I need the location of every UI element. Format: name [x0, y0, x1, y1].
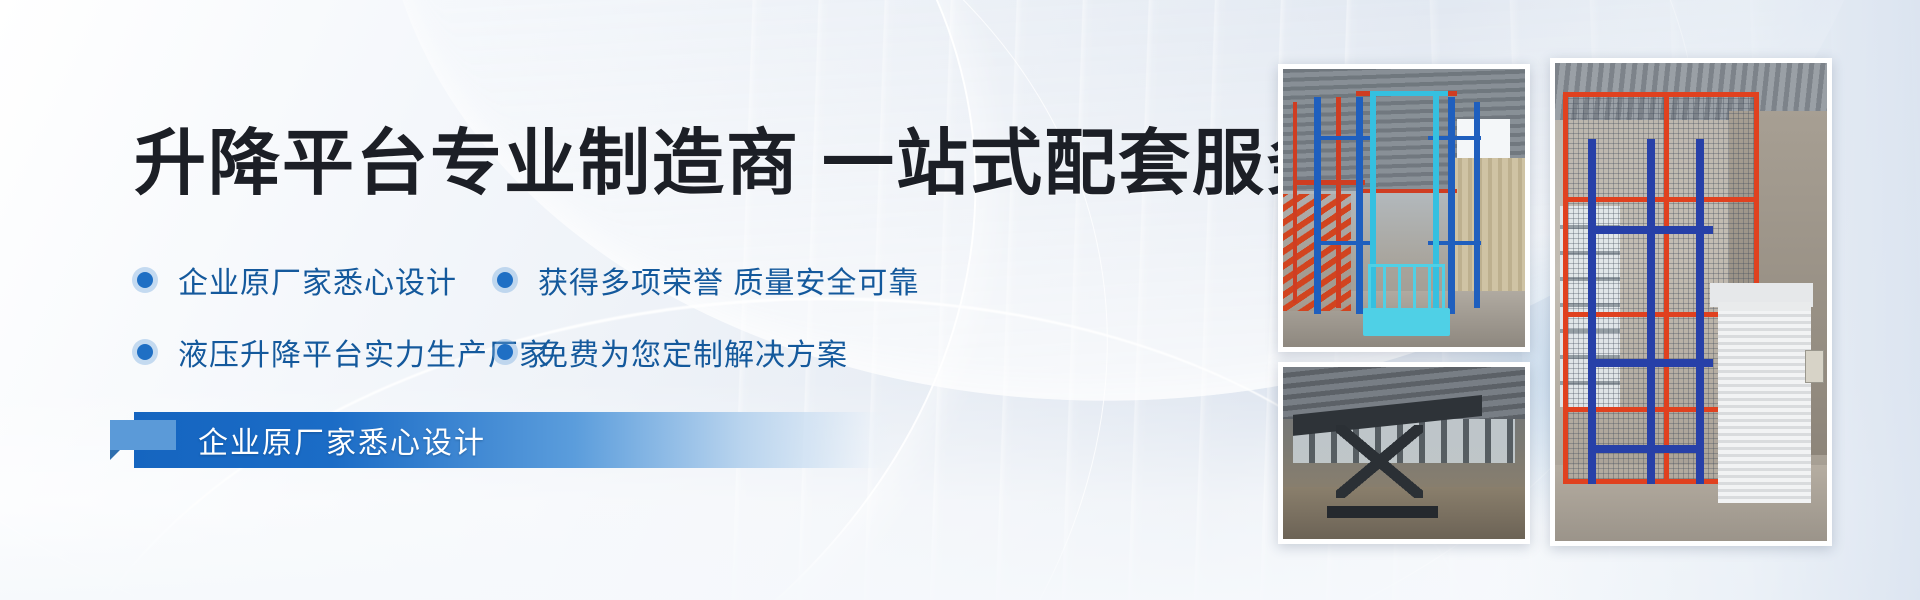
- feature-item-2: 获得多项荣誉 质量安全可靠: [490, 258, 919, 302]
- product-photo-collage: [1262, 0, 1920, 600]
- feature-item-4-label: 免费为您定制解决方案: [538, 330, 848, 374]
- banner-content: 升降平台专业制造商 一站式配套服务 企业原厂家悉心设计 获得多项荣誉 质量安全可…: [0, 0, 1260, 600]
- ribbon-label: 企业原厂家悉心设计: [198, 418, 486, 462]
- feature-item-4: 免费为您定制解决方案: [490, 330, 848, 374]
- cargo-lift-mezzanine-photo: [1278, 64, 1530, 352]
- feature-row-2: 液压升降平台实力生产厂家 免费为您定制解决方案: [130, 330, 1190, 374]
- promo-banner: 升降平台专业制造商 一站式配套服务 企业原厂家悉心设计 获得多项荣誉 质量安全可…: [0, 0, 1920, 600]
- bullet-dot-icon: [490, 265, 520, 295]
- scissor-lift-photo: [1278, 362, 1530, 544]
- feature-list: 企业原厂家悉心设计 获得多项荣誉 质量安全可靠 液压升降平台实力生产厂家 免费为…: [130, 258, 1190, 402]
- bullet-dot-icon: [130, 265, 160, 295]
- banner-headline: 升降平台专业制造商 一站式配套服务: [134, 104, 1340, 209]
- feature-item-3: 液压升降平台实力生产厂家: [130, 330, 490, 374]
- bullet-dot-icon: [490, 337, 520, 367]
- feature-item-2-label: 获得多项荣誉 质量安全可靠: [538, 258, 919, 302]
- guide-rail-lift-photo: [1550, 58, 1832, 546]
- feature-row-1: 企业原厂家悉心设计 获得多项荣誉 质量安全可靠: [130, 258, 1190, 302]
- highlight-ribbon: 企业原厂家悉心设计: [134, 412, 894, 468]
- feature-item-1-label: 企业原厂家悉心设计: [178, 258, 457, 302]
- bullet-dot-icon: [130, 337, 160, 367]
- ribbon-tab-icon: [110, 420, 176, 450]
- feature-item-1: 企业原厂家悉心设计: [130, 258, 490, 302]
